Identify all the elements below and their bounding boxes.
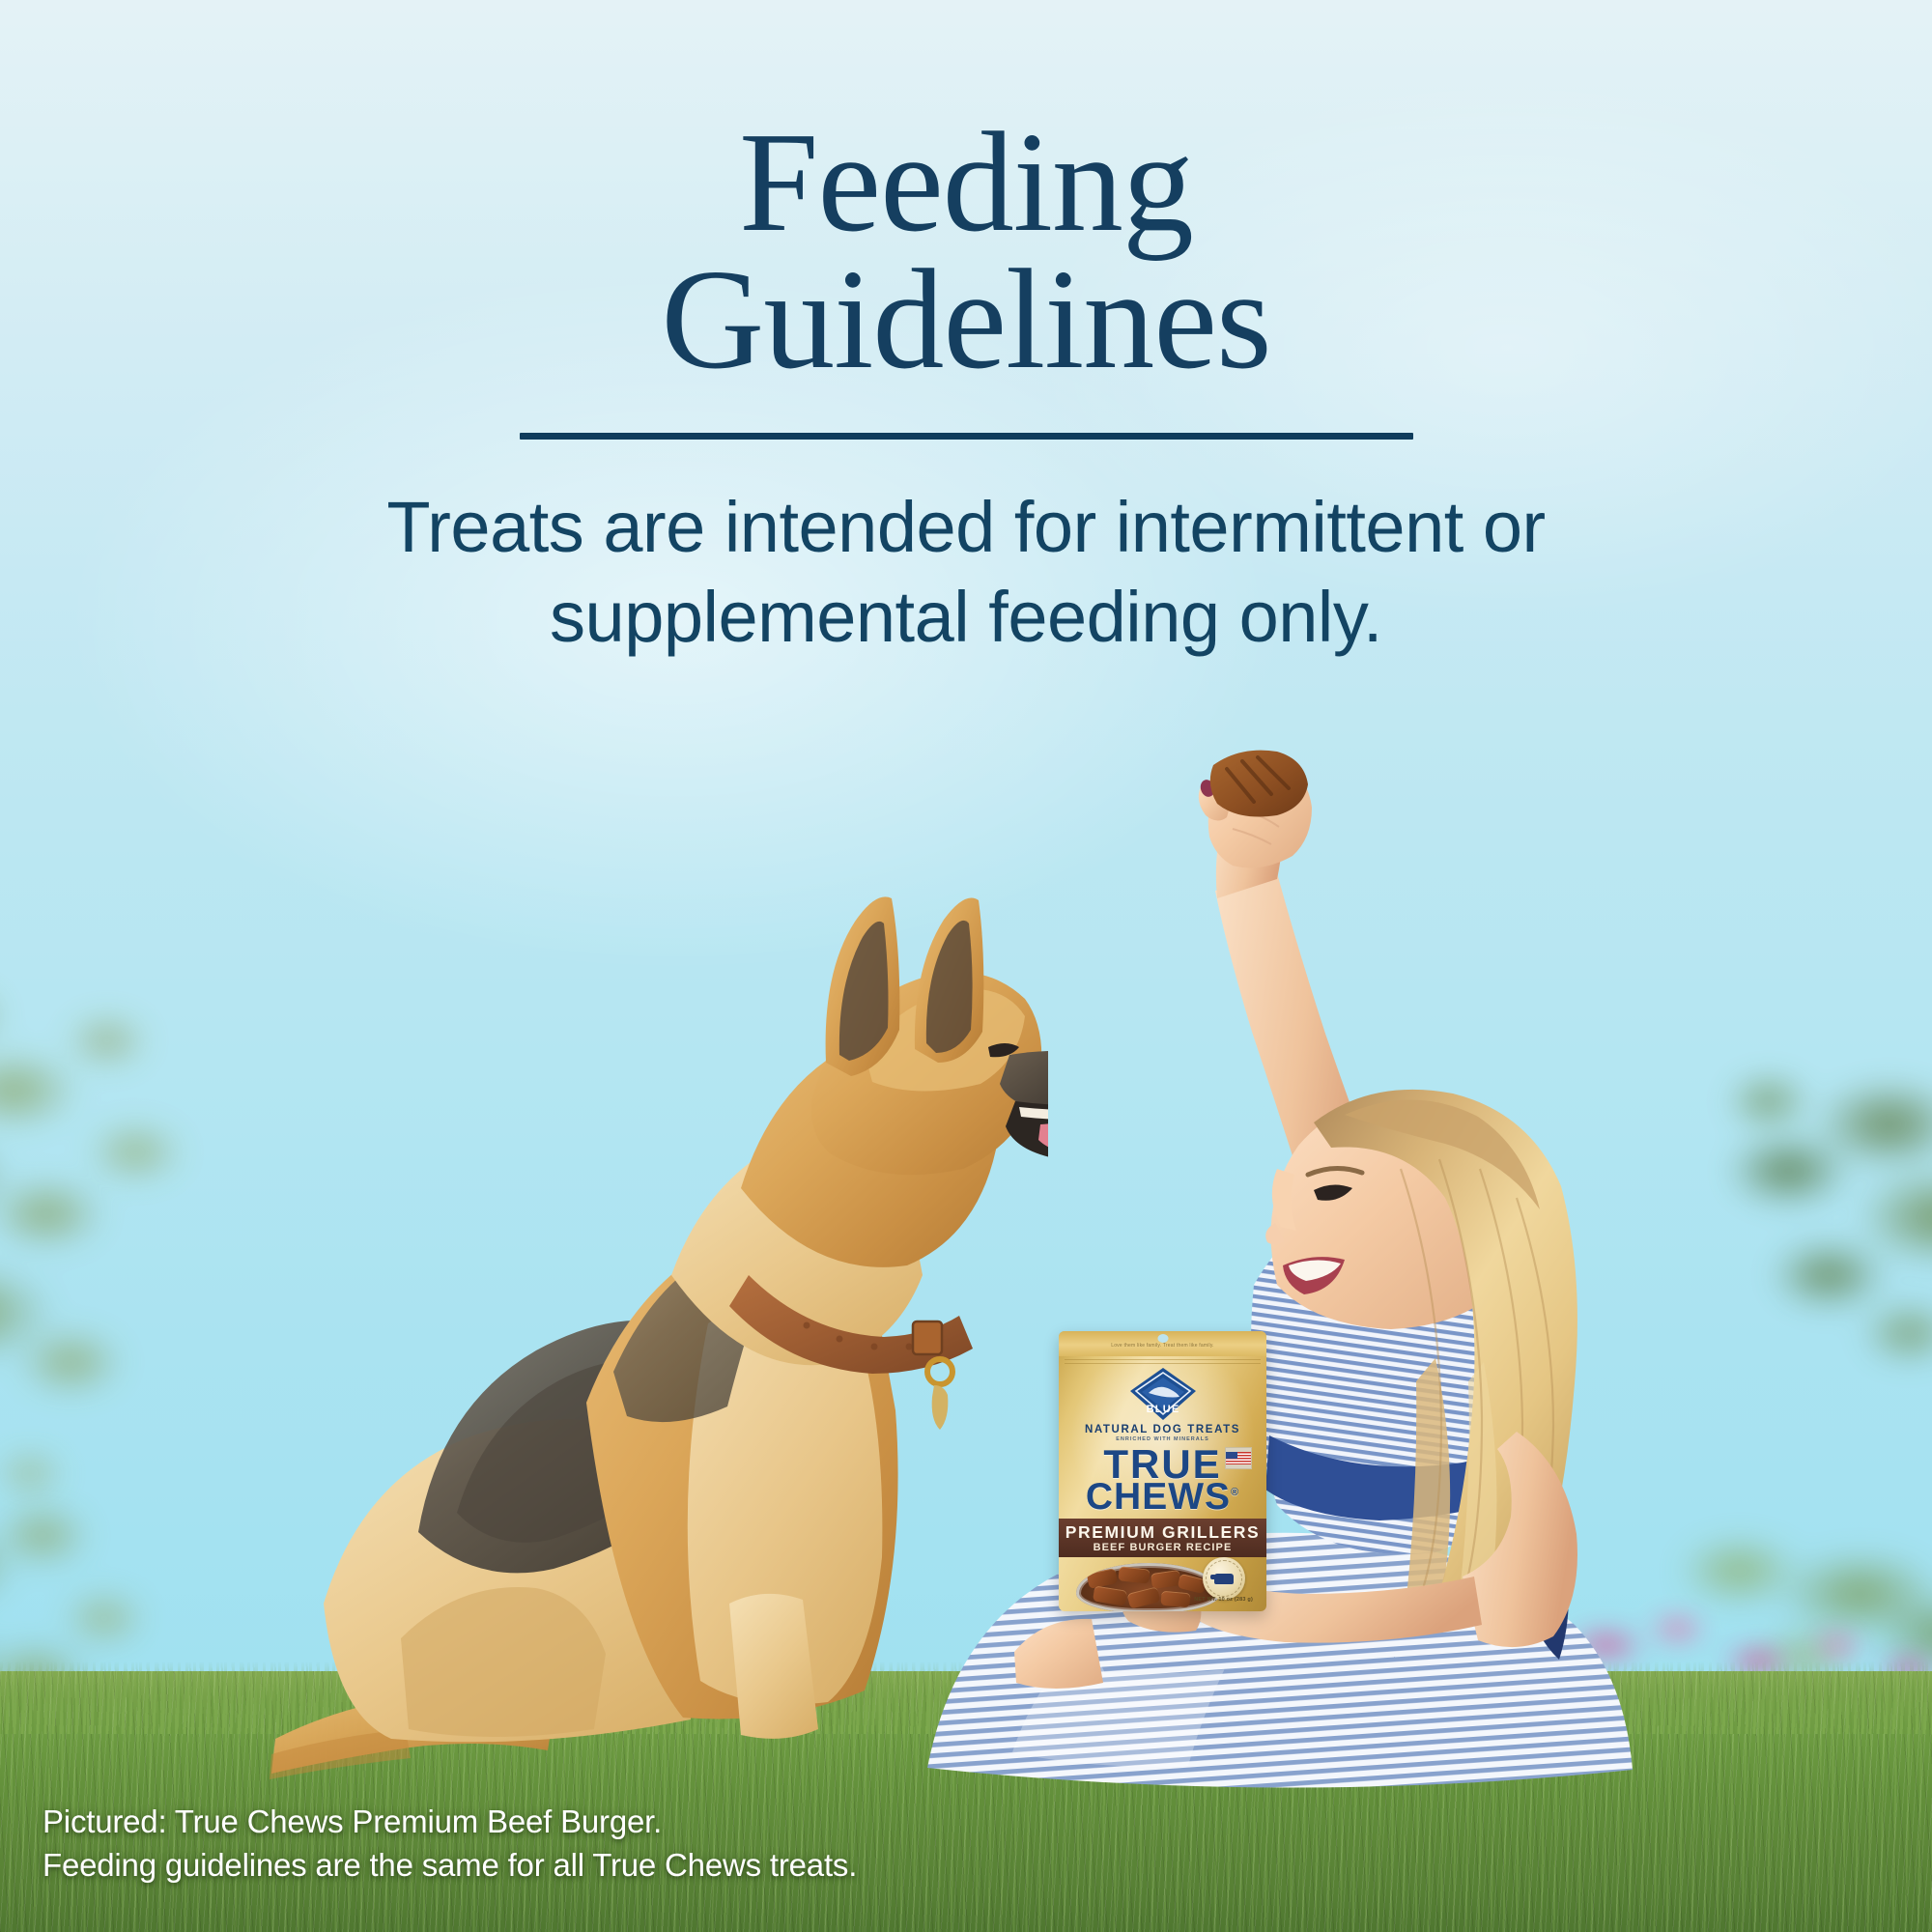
- page-title-line-2: Guidelines: [0, 251, 1932, 388]
- page-subtitle-line-1: Treats are intended for intermittent or: [174, 482, 1758, 572]
- package-seam-upper: [1065, 1359, 1261, 1360]
- footer-caption-line-2: Feeding guidelines are the same for all …: [43, 1843, 857, 1888]
- treat-nugget: [1093, 1585, 1127, 1605]
- footer-caption-line-1: Pictured: True Chews Premium Beef Burger…: [43, 1800, 857, 1844]
- page-subtitle-line-2: supplemental feeding only.: [174, 572, 1758, 662]
- svg-text:BLUE: BLUE: [1146, 1404, 1179, 1415]
- treat-nugget: [1127, 1586, 1161, 1608]
- page-title: Feeding Guidelines: [0, 0, 1932, 388]
- woman-holding-treat: [898, 744, 1729, 1855]
- flag-canton: [1226, 1452, 1237, 1459]
- package-trademark: ®: [1231, 1487, 1239, 1498]
- blue-brand-diamond-icon: BLUE: [1127, 1366, 1199, 1422]
- package-band-title: PREMIUM GRILLERS: [1059, 1522, 1266, 1543]
- package-tagline: Love them like family. Treat them like f…: [1059, 1343, 1266, 1349]
- package-product-window: [1076, 1563, 1221, 1611]
- true-chews-package: Love them like family. Treat them like f…: [1059, 1331, 1266, 1611]
- footer-caption: Pictured: True Chews Premium Beef Burger…: [43, 1800, 857, 1888]
- header-block: Feeding Guidelines Treats are intended f…: [0, 0, 1932, 663]
- flag-label-bottom: [1226, 1464, 1251, 1468]
- made-with-real-beef-badge: [1203, 1557, 1245, 1600]
- title-divider: [520, 433, 1413, 440]
- package-band-subtitle: BEEF BURGER RECIPE: [1059, 1542, 1266, 1553]
- treat-nugget: [1118, 1566, 1150, 1583]
- package-seam-lower: [1065, 1363, 1261, 1364]
- feeding-guidelines-graphic: Feeding Guidelines Treats are intended f…: [0, 0, 1932, 1932]
- treat-nugget: [1160, 1591, 1190, 1608]
- treat-nugget: [1151, 1570, 1181, 1589]
- made-in-usa-flag-icon: [1225, 1447, 1252, 1469]
- package-hang-hole-icon: [1157, 1334, 1168, 1343]
- page-subtitle: Treats are intended for intermittent or …: [0, 482, 1932, 662]
- cow-silhouette-icon: [1214, 1574, 1234, 1584]
- page-title-line-1: Feeding: [0, 114, 1932, 251]
- package-net-weight: NET WT. 10 oz (283 g): [1194, 1597, 1253, 1603]
- package-natural-line: NATURAL DOG TREATS: [1059, 1424, 1266, 1435]
- package-product-chews: CHEWS®: [1059, 1476, 1266, 1519]
- package-product-chews-text: CHEWS: [1086, 1476, 1231, 1518]
